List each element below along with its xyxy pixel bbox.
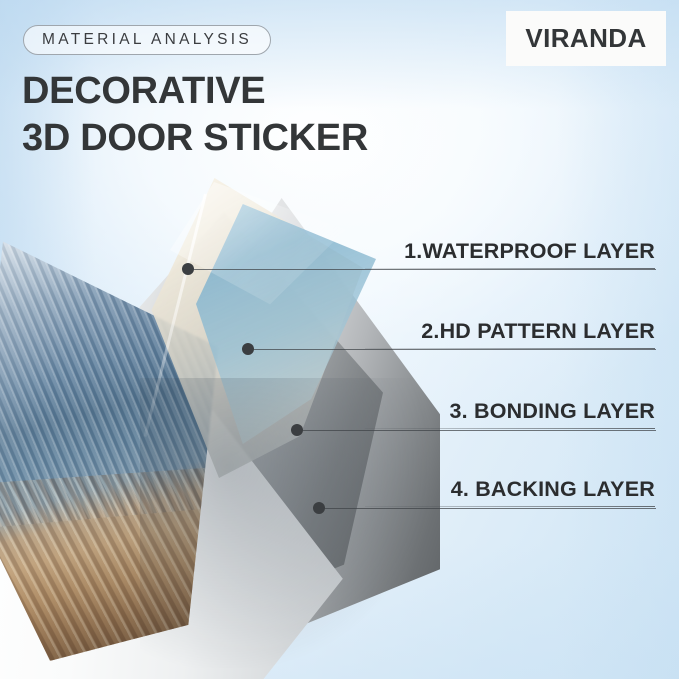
anchor-dot-waterproof	[182, 263, 194, 275]
page-title: DECORATIVE 3D DOOR STICKER	[22, 68, 368, 162]
poster-canvas: MATERIAL ANALYSIS DECORATIVE 3D DOOR STI…	[0, 0, 679, 679]
badge-label: MATERIAL ANALYSIS	[42, 31, 252, 49]
brand-logo-box: VIRANDA	[506, 11, 666, 66]
material-analysis-badge: MATERIAL ANALYSIS	[23, 25, 271, 55]
anchor-dot-bonding	[291, 424, 303, 436]
leader-line-hd-pattern	[250, 349, 656, 350]
anchor-dot-hd-pattern	[242, 343, 254, 355]
callout-underline	[365, 506, 655, 507]
callout-backing-layer: 4. BACKING LAYER	[355, 478, 655, 507]
title-line-1: DECORATIVE	[22, 68, 368, 115]
callout-bonding-layer: 3. BONDING LAYER	[355, 400, 655, 429]
leader-line-bonding	[299, 430, 656, 431]
callout-waterproof-layer: 1.WATERPROOF LAYER	[355, 240, 655, 269]
anchor-dot-backing	[313, 502, 325, 514]
callout-label: 4. BACKING LAYER	[451, 478, 655, 506]
callout-label: 1.WATERPROOF LAYER	[404, 240, 655, 268]
callout-hd-pattern-layer: 2.HD PATTERN LAYER	[355, 320, 655, 349]
callout-underline	[365, 428, 655, 429]
title-line-2: 3D DOOR STICKER	[22, 115, 368, 162]
callout-label: 2.HD PATTERN LAYER	[421, 320, 655, 348]
brand-name: VIRANDA	[525, 23, 646, 54]
leader-line-backing	[321, 508, 656, 509]
leader-line-waterproof	[190, 269, 656, 270]
callout-label: 3. BONDING LAYER	[450, 400, 656, 428]
